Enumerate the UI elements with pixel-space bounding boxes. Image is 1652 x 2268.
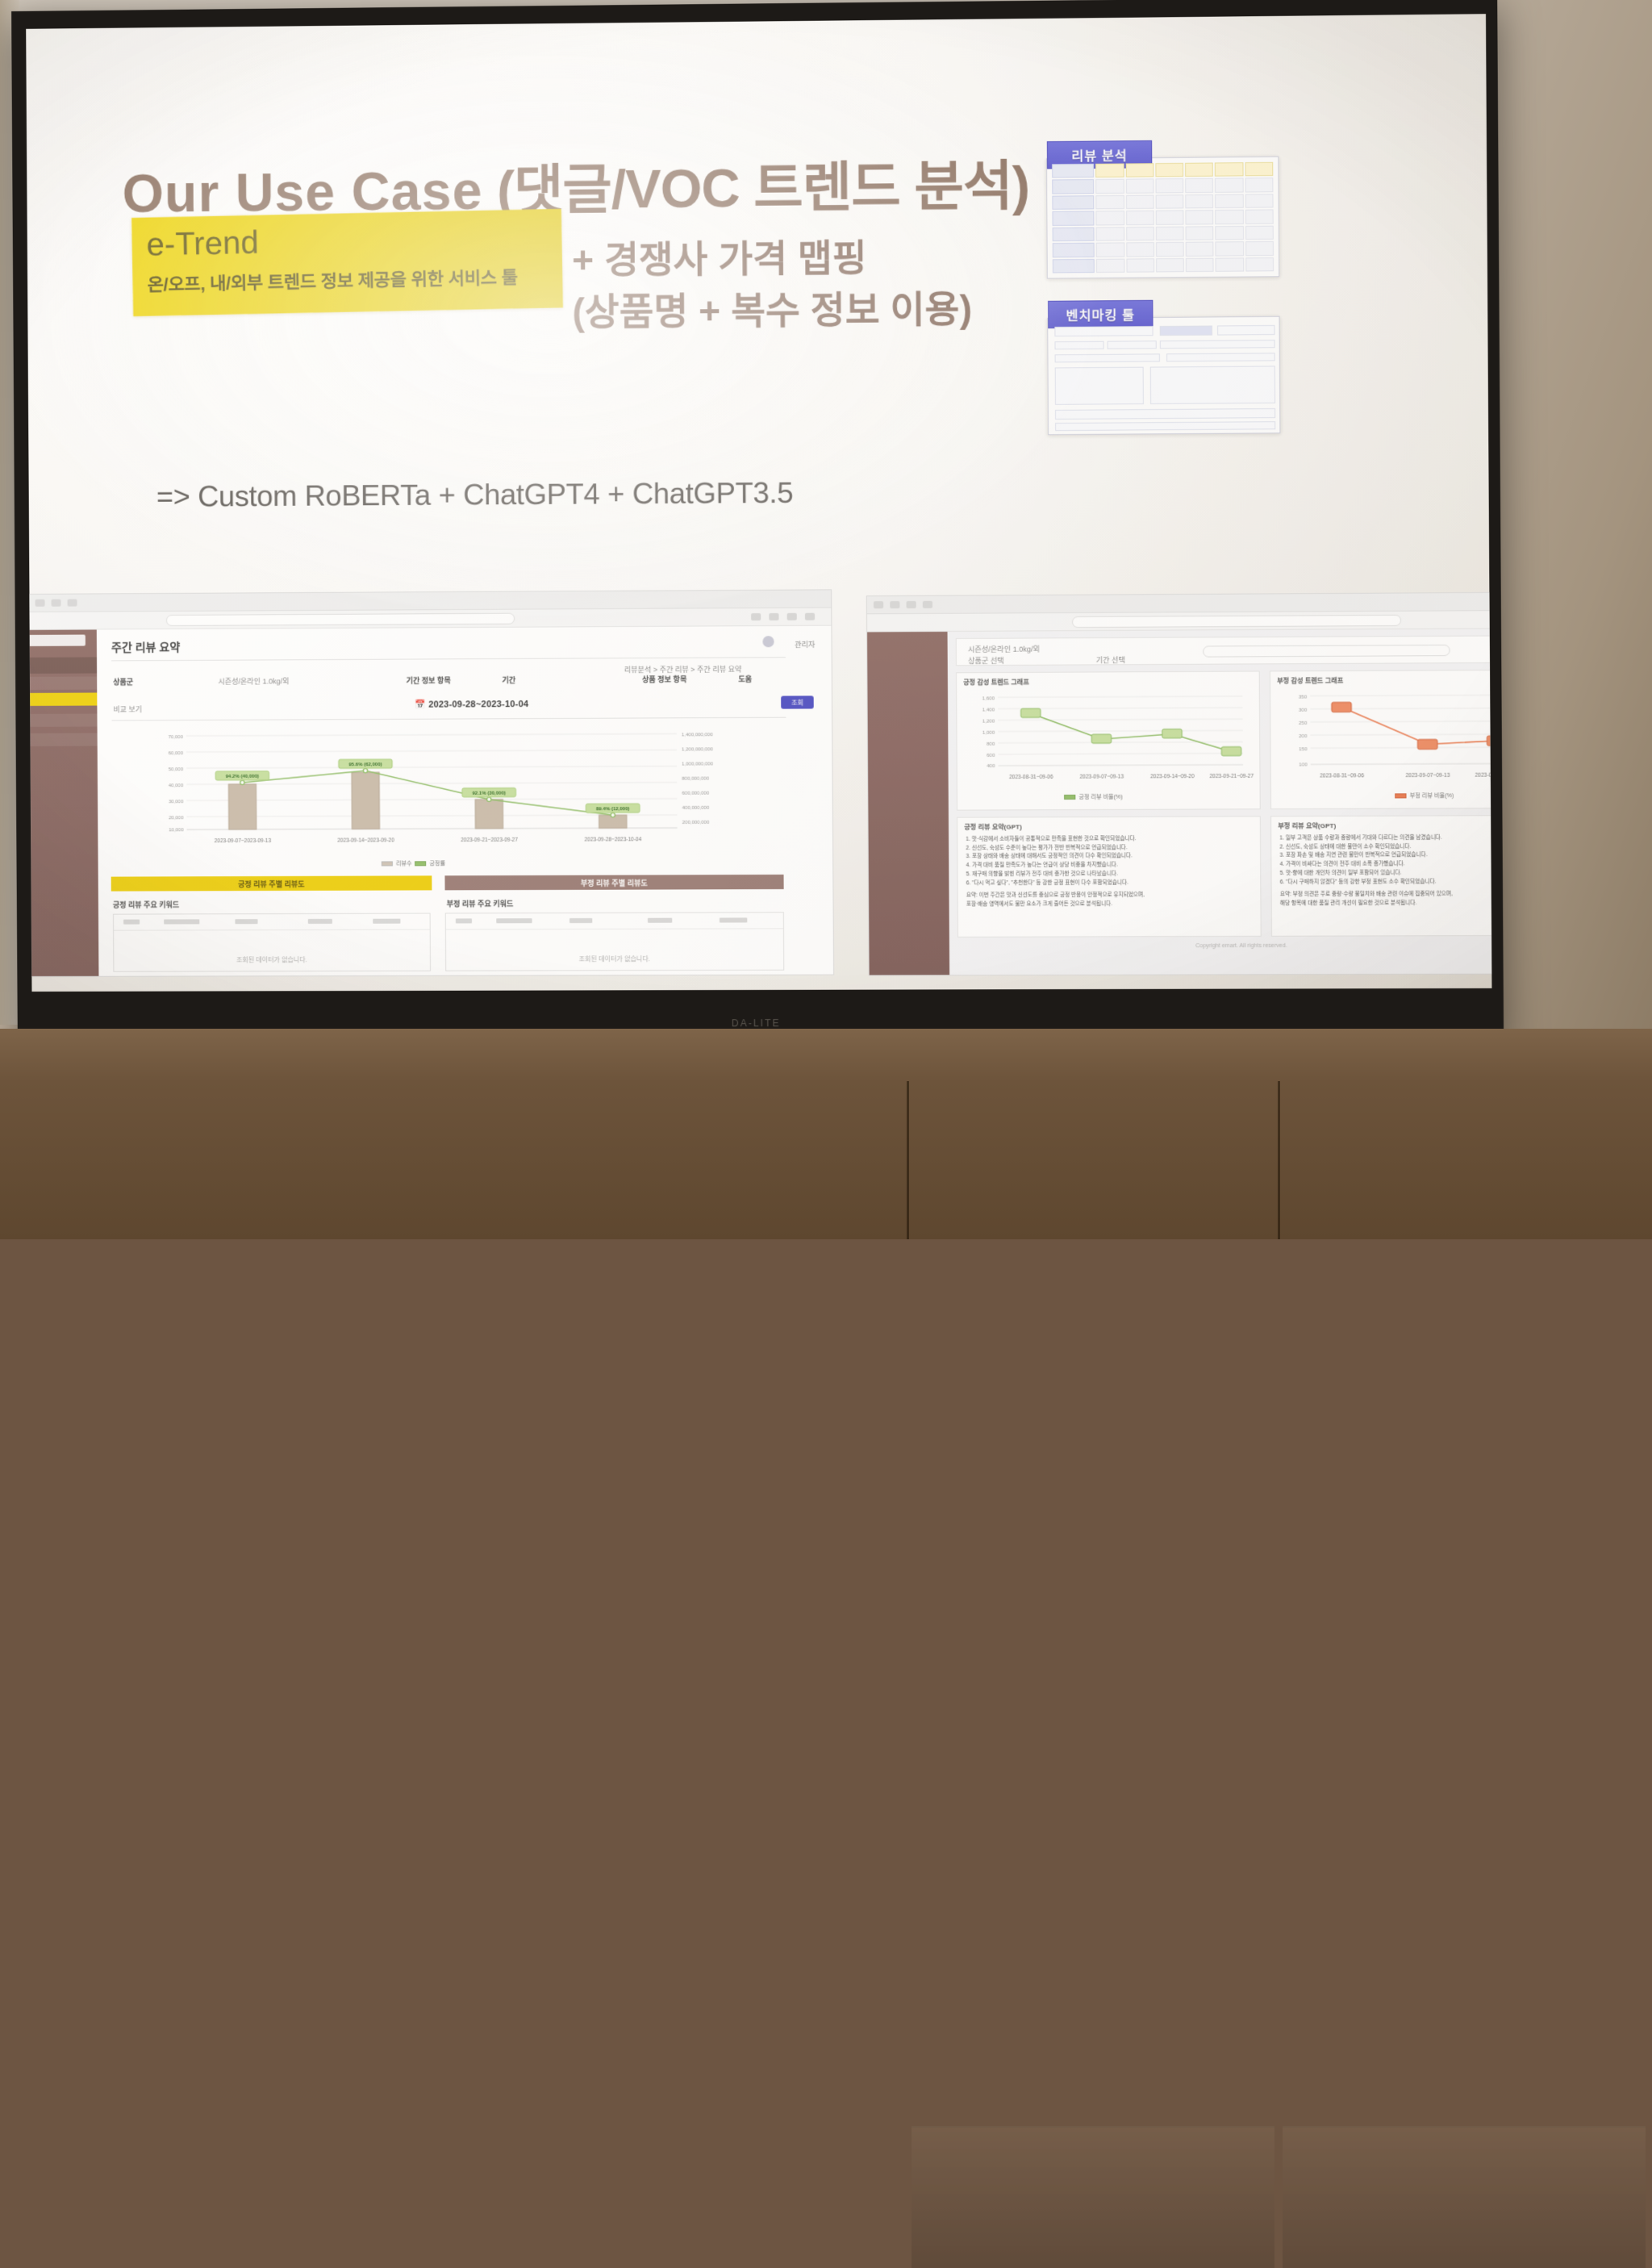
card-negative-summary: 부정 리뷰 요약(GPT) 1. 일부 고객은 상품 수량과 중량에서 기대와 …	[1270, 815, 1491, 937]
col-mentions	[235, 919, 257, 924]
filter-label-3: 기간	[502, 675, 515, 685]
mockup-benchmarking-tool: 벤치마킹 툴	[1047, 316, 1280, 435]
svg-text:40,000: 40,000	[169, 783, 184, 788]
mk-cell	[1126, 258, 1154, 273]
svg-text:600: 600	[987, 754, 995, 758]
mk-cell	[1186, 210, 1214, 224]
svg-text:2023-09-07~09-13: 2023-09-07~09-13	[1406, 773, 1450, 779]
svg-text:1,200: 1,200	[982, 720, 995, 725]
mk-cell	[1096, 243, 1124, 257]
svg-text:2023-09-07~2023-09-13: 2023-09-07~2023-09-13	[215, 838, 272, 844]
mk-cell	[1126, 194, 1154, 209]
subhead-negative: 부정 리뷰 주요 키워드	[447, 898, 514, 908]
mk-cell	[1126, 211, 1154, 225]
svg-text:2023-09-14~2023-09-20: 2023-09-14~2023-09-20	[337, 837, 394, 843]
svg-text:1,600: 1,600	[982, 696, 995, 701]
dashboard-page-title: 주간 리뷰 요약	[111, 639, 180, 655]
svg-text:2023-09-14~09-20: 2023-09-14~09-20	[1475, 772, 1492, 778]
mk-cell	[1186, 242, 1214, 257]
mockup-review-table	[1052, 162, 1274, 274]
mk-cell	[1096, 211, 1124, 225]
col-ratio	[648, 918, 672, 923]
x-axis-ticks: 2023-09-07~2023-09-13 2023-09-14~2023-09…	[215, 837, 642, 844]
chart-markers	[1332, 701, 1492, 758]
filter-value-1[interactable]: 시즌성/온라인 1.0kg/외	[218, 675, 289, 686]
svg-text:350: 350	[1299, 695, 1308, 700]
sidebar-item-2[interactable]	[26, 714, 97, 727]
mk-cell	[1096, 195, 1124, 210]
mk-cell	[1245, 241, 1274, 256]
url-input[interactable]	[166, 613, 515, 626]
sidebar-item-1-active[interactable]	[26, 693, 97, 706]
cabinet-door-left[interactable]	[912, 2126, 1274, 2268]
chart-line	[1341, 706, 1491, 753]
mk-field	[1217, 325, 1275, 336]
mk-cell	[1186, 257, 1214, 272]
y-axis-left-ticks: 70,000 60,000 50,000 40,000 30,000 20,00…	[168, 735, 184, 833]
title-korean: (댓글/VOC 트렌드 분석)	[497, 155, 1030, 219]
svg-text:2023-09-07~09-13: 2023-09-07~09-13	[1079, 774, 1124, 779]
mk-cell	[1053, 258, 1095, 273]
mk-cell	[1126, 227, 1154, 241]
presentation-slide: Our Use Case (댓글/VOC 트렌드 분석) e-Trend 온/오…	[26, 14, 1486, 29]
sidebar-item-3[interactable]	[26, 733, 97, 746]
filter-label-0: 상품군	[113, 676, 133, 687]
divider	[112, 717, 786, 721]
mk-field	[1160, 326, 1212, 336]
chart-markers	[240, 767, 615, 818]
mk-field	[1054, 326, 1153, 336]
svg-text:200: 200	[1299, 734, 1308, 739]
mk-field	[1160, 340, 1275, 349]
card-positive-summary: 긍정 리뷰 요약(GPT) 1. 맛·식감에서 소비자들이 공통적으로 만족을 …	[957, 816, 1262, 938]
svg-text:1,000: 1,000	[982, 731, 995, 736]
mockup-review-analysis: 리뷰 분석	[1046, 157, 1279, 279]
search-button[interactable]: 조회	[781, 695, 814, 708]
summary-head-positive: 긍정 리뷰 요약(GPT)	[964, 822, 1022, 831]
mk-cell	[1096, 179, 1124, 194]
chart-legend-negative: 부정 리뷰 비율(%)	[1395, 792, 1454, 800]
card-title-negative: 부정 감성 트렌드 그래프	[1277, 676, 1343, 686]
svg-text:400,000,000: 400,000,000	[682, 806, 710, 811]
filter-label-5: 도움	[738, 674, 752, 684]
mk-cell	[1185, 178, 1213, 193]
avatar[interactable]	[762, 636, 774, 647]
table-header	[446, 913, 783, 929]
legend-label: 긍정 리뷰 비율(%)	[1078, 793, 1122, 801]
mk-cell	[1125, 179, 1153, 194]
mk-cell	[1245, 194, 1273, 208]
projector-brand-label: DA-LITE	[732, 1017, 781, 1029]
brand-logo	[26, 635, 86, 646]
mk-cell	[1216, 241, 1244, 256]
svg-text:1,000,000,000: 1,000,000,000	[682, 762, 713, 766]
mk-textarea	[1150, 365, 1275, 404]
cabinet-seam	[907, 1081, 909, 1239]
col-ratio	[308, 919, 332, 924]
mk-cell	[1156, 211, 1184, 225]
dashboard-sidebar	[867, 632, 949, 975]
chart-line	[1031, 712, 1232, 753]
filter-label-2: 기간 정보 항목	[407, 675, 451, 685]
mk-cell	[1156, 258, 1184, 273]
mk-cell	[1052, 164, 1094, 178]
svg-text:30,000: 30,000	[169, 800, 184, 804]
star-icon[interactable]	[751, 613, 761, 620]
legend-label-positive: 긍정률	[430, 859, 446, 867]
card-positive-trend: 긍정 감성 트렌드 그래프	[956, 670, 1261, 810]
mk-cell	[1096, 227, 1124, 241]
svg-text:800: 800	[987, 742, 995, 747]
svg-text:95.6% (62,000): 95.6% (62,000)	[348, 762, 382, 767]
mk-field	[1054, 341, 1103, 350]
svg-text:800,000,000: 800,000,000	[682, 777, 709, 782]
summary-bullets-positive: 1. 맛·식감에서 소비자들이 공통적으로 만족을 표현한 것으로 확인되었습니…	[966, 835, 1255, 910]
tab-chip[interactable]	[68, 599, 77, 607]
right-positive-chart: 1,600 1,400 1,200 1,000 800 600 400	[960, 688, 1256, 804]
dashboard-screenshot-left: 주간 리뷰 요약 상품군 시즌성/온라인 1.0kg/외 기간 정보 항목 기간…	[26, 589, 834, 977]
plus-icon[interactable]	[787, 613, 797, 620]
mk-cell	[1245, 162, 1273, 177]
svg-text:1,400: 1,400	[982, 708, 995, 712]
cabinet-door-right[interactable]	[1283, 2126, 1646, 2268]
mk-cell	[1245, 178, 1273, 192]
mk-footer	[1055, 408, 1275, 420]
divider	[111, 657, 786, 661]
url-input[interactable]	[1072, 615, 1401, 628]
svg-text:60,000: 60,000	[169, 751, 184, 756]
svg-text:1,200,000,000: 1,200,000,000	[682, 747, 713, 752]
menu-icon[interactable]	[805, 613, 815, 620]
reload-icon[interactable]	[52, 599, 61, 607]
dashboard-body: 시즌성/온라인 1.0kg/외 상품군 선택 기간 선택 긍정 감성 트렌드 그…	[948, 629, 1492, 975]
mk-footer	[1055, 421, 1275, 431]
mk-cell	[1096, 258, 1124, 273]
mk-cell	[1215, 178, 1243, 193]
svg-text:600,000,000: 600,000,000	[682, 792, 709, 796]
table-positive-keywords: 조회된 데이터가 없습니다.	[113, 913, 431, 972]
filter-bar: 시즌성/온라인 1.0kg/외 상품군 선택 기간 선택	[956, 635, 1492, 666]
mk-field	[1108, 340, 1157, 349]
mk-cell	[1245, 257, 1274, 272]
cabinet	[0, 1029, 1652, 1239]
back-icon[interactable]	[26, 599, 28, 607]
table-header	[114, 914, 430, 931]
chart-gridlines	[998, 696, 1243, 766]
mk-cell	[1185, 163, 1213, 178]
section-header-negative: 부정 리뷰 주별 리뷰도	[444, 875, 783, 890]
svg-text:2023-08-31~09-06: 2023-08-31~09-06	[1320, 773, 1364, 779]
highlight-description: 온/오프, 내/외부 트렌드 정보 제공을 위한 서비스 툴	[147, 263, 518, 296]
card-title-positive: 긍정 감성 트렌드 그래프	[963, 678, 1029, 687]
search-input[interactable]	[1203, 645, 1450, 658]
mk-cell	[1052, 211, 1094, 226]
svg-text:92.1% (30,000): 92.1% (30,000)	[473, 792, 506, 796]
projection-screen-surface: Our Use Case (댓글/VOC 트렌드 분석) e-Trend 온/오…	[26, 14, 1491, 992]
svg-text:2023-09-14~09-20: 2023-09-14~09-20	[1150, 774, 1195, 779]
svg-text:250: 250	[1299, 721, 1308, 726]
svg-text:2023-09-28~2023-10-04: 2023-09-28~2023-10-04	[584, 837, 641, 842]
svg-text:10,000: 10,000	[169, 828, 184, 833]
mk-cell	[1185, 194, 1213, 209]
y-axis-ticks: 350 300 250 200 150 100	[1299, 695, 1308, 767]
col-mentions	[569, 918, 592, 923]
svg-text:2023-08-31~09-06: 2023-08-31~09-06	[1009, 775, 1053, 780]
home-icon[interactable]	[769, 613, 778, 620]
y-axis-ticks: 1,600 1,400 1,200 1,000 800 600 400	[982, 696, 995, 769]
user-name: 관리자	[795, 639, 815, 649]
left-main-chart: 70,000 60,000 50,000 40,000 30,000 20,00…	[109, 724, 789, 863]
col-rank	[456, 918, 472, 923]
mk-cell	[1155, 178, 1183, 193]
y-axis-right-ticks: 1,400,000,000 1,200,000,000 1,000,000,00…	[682, 733, 714, 825]
svg-text:94.2% (40,000): 94.2% (40,000)	[226, 775, 259, 779]
highlight-box: e-Trend 온/오프, 내/외부 트렌드 정보 제공을 위한 서비스 툴	[131, 209, 563, 316]
mk-cell	[1156, 226, 1184, 240]
summary-head-negative: 부정 리뷰 요약(GPT)	[1278, 821, 1336, 830]
col-delta	[373, 919, 400, 924]
mk-textarea	[1055, 367, 1144, 405]
mk-field	[1166, 353, 1275, 361]
filter-label-4: 상품 정보 항목	[642, 674, 686, 684]
col-rank	[123, 920, 140, 925]
svg-text:1,400,000,000: 1,400,000,000	[682, 733, 713, 737]
col-delta	[720, 917, 747, 922]
table-negative-keywords: 조회된 데이터가 없습니다.	[445, 912, 785, 971]
sidebar-section-header	[26, 657, 97, 674]
x-axis-ticks: 2023-08-31~09-06 2023-09-07~09-13 2023-0…	[1009, 774, 1254, 780]
chart-line-positive	[242, 770, 612, 817]
subhead-positive: 긍정 리뷰 주요 키워드	[113, 899, 179, 909]
mk-cell	[1125, 163, 1153, 178]
forward-icon[interactable]	[890, 601, 899, 608]
mk-cell	[1156, 194, 1184, 209]
filter-chip-2[interactable]: 기간 선택	[1096, 654, 1125, 665]
forward-icon[interactable]	[35, 599, 45, 607]
svg-text:100: 100	[1299, 762, 1308, 767]
breadcrumb: 리뷰분석 > 주간 리뷰 > 주간 리뷰 요약	[624, 664, 742, 675]
table-empty-message: 조회된 데이터가 없습니다.	[446, 954, 783, 964]
mk-cell	[1052, 179, 1094, 194]
right-line-1: + 경쟁사 가격 맵핑	[572, 228, 867, 284]
col-keyword	[496, 918, 532, 923]
svg-text:150: 150	[1299, 747, 1308, 752]
mk-cell	[1053, 243, 1095, 257]
mk-cell	[1155, 163, 1183, 178]
mk-cell	[1216, 257, 1244, 272]
filter-chip-0[interactable]: 시즌성/온라인 1.0kg/외	[968, 643, 1040, 654]
chart-legend-positive: 긍정 리뷰 비율(%)	[1064, 793, 1123, 801]
svg-text:300: 300	[1299, 708, 1308, 713]
calendar-icon: 📅	[415, 700, 426, 710]
mk-cell	[1156, 242, 1184, 257]
mk-cell	[1186, 226, 1214, 240]
svg-text:20,000: 20,000	[169, 816, 184, 821]
svg-text:2023-09-21~09-27: 2023-09-21~09-27	[1209, 774, 1254, 779]
mk-cell	[1126, 242, 1154, 257]
meeting-room-background: Our Use Case (댓글/VOC 트렌드 분석) e-Trend 온/오…	[0, 0, 1652, 1239]
legend-swatch	[1064, 795, 1075, 800]
mk-cell	[1216, 226, 1244, 240]
filter-chip-1[interactable]: 상품군 선택	[968, 655, 1004, 666]
mk-cell	[1245, 210, 1274, 224]
mk-cell	[1215, 194, 1243, 208]
chart-legend: 리뷰수 긍정률	[382, 859, 445, 867]
mk-field	[1055, 353, 1160, 362]
legend-swatch	[1395, 793, 1406, 798]
svg-text:50,000: 50,000	[169, 767, 184, 772]
card-negative-trend: 부정 감성 트렌드 그래프	[1270, 669, 1491, 809]
toggle-label[interactable]: 비교 보기	[113, 704, 142, 714]
svg-text:400: 400	[987, 764, 995, 769]
summary-bullets-negative: 1. 일부 고객은 상품 수량과 중량에서 기대와 다르다는 의견을 남겼습니다…	[1279, 833, 1491, 908]
svg-text:200,000,000: 200,000,000	[682, 821, 710, 825]
date-range-value[interactable]: 📅 2023-09-28~2023-10-04	[415, 699, 528, 710]
date-range-text: 2023-09-28~2023-10-04	[428, 700, 528, 710]
chart-markers	[1021, 708, 1241, 757]
legend-label-reviews: 리뷰수	[396, 859, 412, 867]
copyright-text: Copyright emart. All rights reserved.	[1195, 943, 1287, 949]
right-negative-chart: 350 300 250 200 150 100	[1274, 687, 1491, 802]
tab-chip[interactable]	[923, 601, 932, 608]
highlight-heading: e-Trend	[146, 225, 259, 264]
legend-swatch-positive	[415, 861, 426, 866]
legend-swatch-reviews	[382, 861, 393, 866]
dashboard-body: 주간 리뷰 요약 상품군 시즌성/온라인 1.0kg/외 기간 정보 항목 기간…	[97, 626, 833, 976]
mockup-bench-header: 벤치마킹 툴	[1048, 300, 1153, 328]
mk-cell	[1053, 227, 1095, 241]
mk-cell	[1216, 210, 1244, 224]
mk-cell	[1215, 162, 1243, 177]
projection-screen-frame: Our Use Case (댓글/VOC 트렌드 분석) e-Trend 온/오…	[11, 0, 1504, 1048]
dashboard-screenshot-right: 시즌성/온라인 1.0kg/외 상품군 선택 기간 선택 긍정 감성 트렌드 그…	[866, 591, 1492, 975]
col-keyword	[164, 919, 199, 924]
right-line-2: (상품명 + 복수 정보 이용)	[572, 279, 972, 336]
svg-text:89.4% (12,000): 89.4% (12,000)	[596, 807, 629, 812]
table-empty-message: 조회된 데이터가 없습니다.	[114, 955, 430, 965]
dashboard-sidebar	[26, 629, 98, 976]
mk-cell	[1052, 195, 1094, 210]
cabinet-seam	[1278, 1081, 1280, 1239]
section-header-positive: 긍정 리뷰 주별 리뷰도	[111, 875, 432, 891]
svg-text:70,000: 70,000	[168, 735, 183, 740]
models-line: => Custom RoBERTa + ChatGPT4 + ChatGPT3.…	[156, 476, 794, 514]
legend-label: 부정 리뷰 비율(%)	[1410, 792, 1454, 800]
reload-icon[interactable]	[907, 601, 916, 608]
sidebar-item-0[interactable]	[26, 677, 97, 691]
svg-text:2023-09-21~2023-09-27: 2023-09-21~2023-09-27	[461, 837, 518, 843]
back-icon[interactable]	[874, 601, 883, 608]
mk-cell	[1245, 225, 1274, 240]
mk-cell	[1095, 164, 1124, 178]
x-axis-ticks: 2023-08-31~09-06 2023-09-07~09-13 2023-0…	[1320, 772, 1491, 779]
